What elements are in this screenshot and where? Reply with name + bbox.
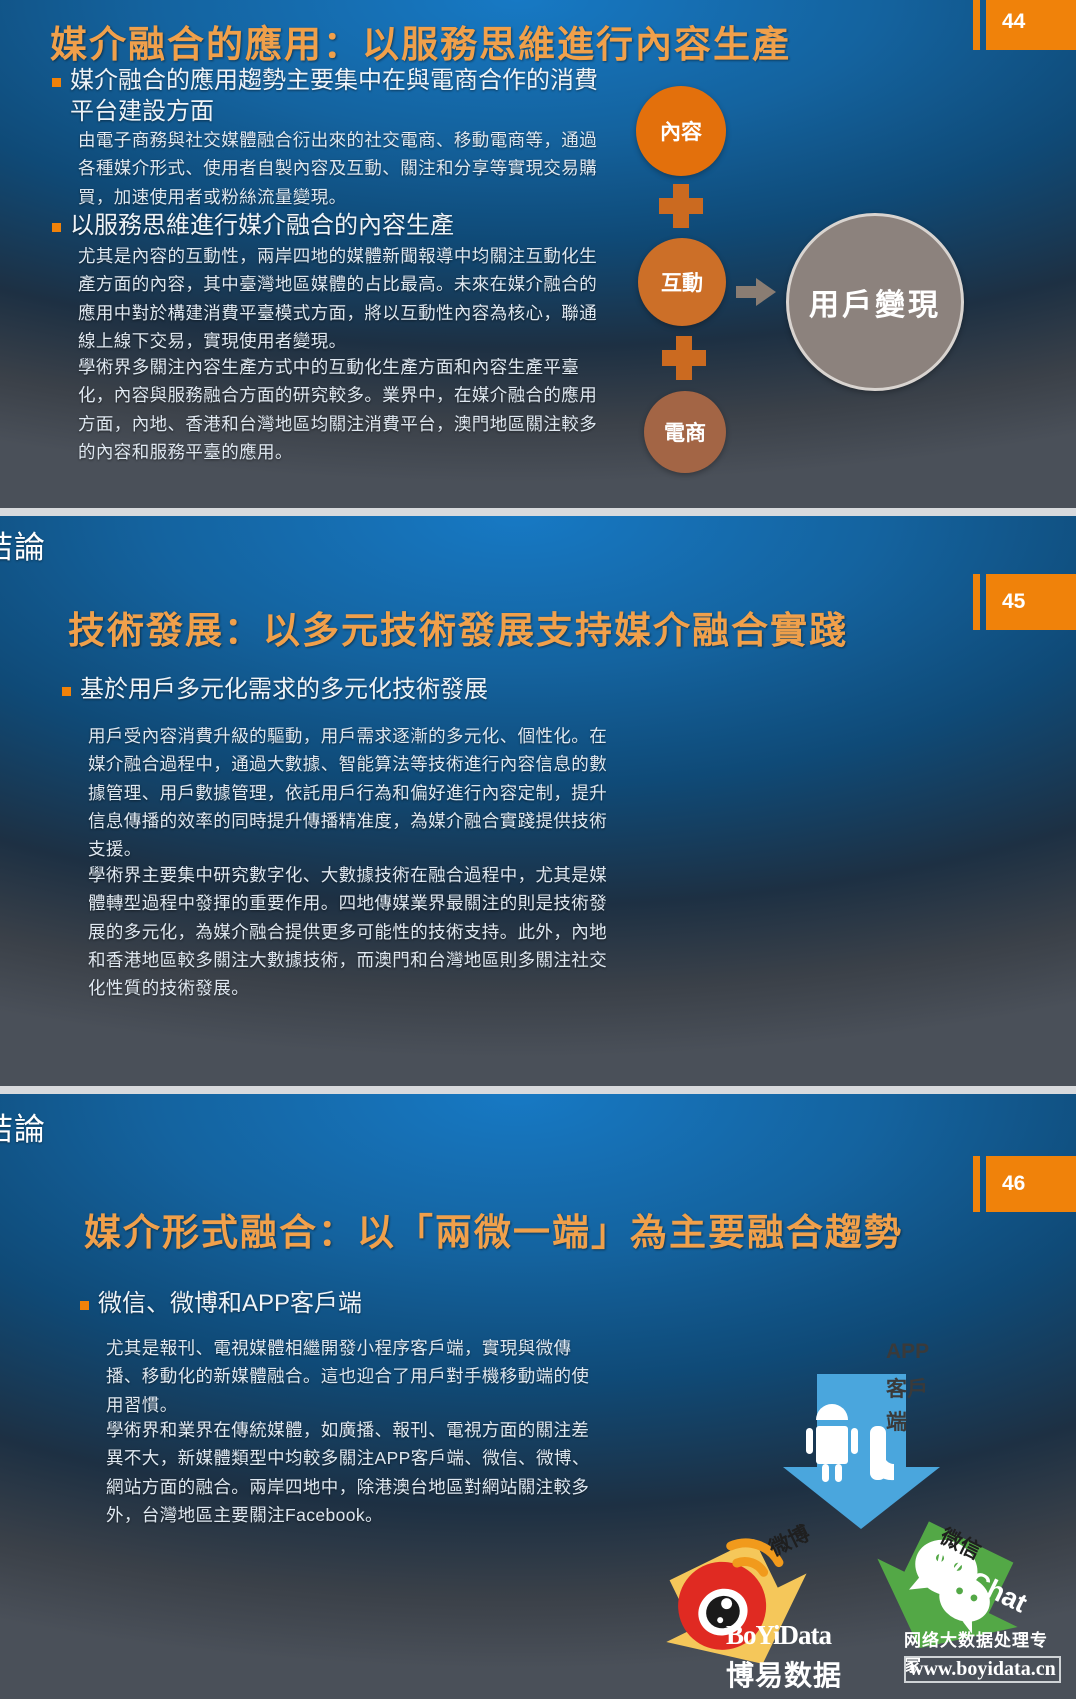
- diagram-node-ecommerce: 電商: [644, 391, 726, 473]
- bullet-heading-1: 基於用戶多元化需求的多元化技術發展: [62, 675, 622, 706]
- slide-separator: [0, 508, 1076, 516]
- bullet-heading-1: 媒介融合的應用趨勢主要集中在與電商合作的消費平台建設方面: [52, 66, 612, 127]
- section-tag: 結論: [0, 1104, 46, 1149]
- arrow-right-icon: [736, 278, 776, 306]
- bullet-heading-text: 以服務思維進行媒介融合的內容生產: [70, 211, 454, 242]
- bullet-heading-2: 以服務思維進行媒介融合的內容生產: [52, 211, 612, 242]
- body-paragraph: 尤其是內容的互動性，兩岸四地的媒體新聞報導中均關注互動化生產方面的內容，其中臺灣…: [78, 242, 606, 355]
- watermark-url: www.boyidata.cn: [904, 1656, 1061, 1683]
- bullet-heading-text: 媒介融合的應用趨勢主要集中在與電商合作的消費平台建設方面: [70, 66, 612, 127]
- watermark: BoYiData 博易数据 网络大数据处理专家 www.boyidata.cn: [726, 1620, 1056, 1690]
- bullet-heading-text: 基於用戶多元化需求的多元化技術發展: [80, 675, 488, 706]
- bullet-square-icon: [52, 223, 61, 232]
- bullet-square-icon: [52, 78, 61, 87]
- body-paragraph: 學術界和業界在傳統媒體，如廣播、報刊、電視方面的關注差異不大，新媒體類型中均較多…: [106, 1416, 606, 1529]
- body-paragraph: 學術界多關注內容生產方式中的互動化生產方面和內容生產平臺化，內容與服務融合方面的…: [78, 353, 606, 466]
- body-paragraph: 由電子商務與社交媒體融合衍出來的社交電商、移動電商等，通過各種媒介形式、使用者自…: [78, 126, 606, 211]
- slide-title: 媒介形式融合：以「兩微一端」為主要融合趨勢: [84, 1202, 903, 1256]
- label-app-line3: 端: [886, 1406, 907, 1436]
- page-chip-bar: [973, 0, 980, 50]
- page-number-chip: 44: [973, 0, 1076, 50]
- page-number-label: 46: [986, 1156, 1076, 1212]
- diagram-node-interaction: 互動: [638, 238, 726, 326]
- slide-45: 結論 45 技術發展：以多元技術發展支持媒介融合實踐 基於用戶多元化需求的多元化…: [0, 516, 1076, 1086]
- label-app: APP: [886, 1340, 929, 1364]
- bullet-square-icon: [62, 687, 71, 696]
- body-paragraph: 用戶受內容消費升級的驅動，用戶需求逐漸的多元化、個性化。在媒介融合過程中，通過大…: [88, 722, 608, 864]
- bullet-heading-1: 微信、微博和APP客戶端: [80, 1289, 620, 1320]
- diagram-result-node: 用戶變現: [786, 213, 964, 391]
- slide-separator: [0, 1086, 1076, 1094]
- page-number-label: 44: [986, 0, 1076, 50]
- body-paragraph: 學術界主要集中研究數字化、大數據技術在融合過程中，尤其是媒體轉型過程中發揮的重要…: [88, 861, 613, 1003]
- slide-title: 媒介融合的應用：以服務思維進行內容生產: [50, 14, 791, 68]
- plus-icon: [662, 336, 706, 380]
- bullet-square-icon: [80, 1301, 89, 1310]
- bullet-heading-text: 微信、微博和APP客戶端: [98, 1289, 362, 1320]
- diagram-node-content: 內容: [636, 86, 726, 176]
- plus-icon: [659, 184, 703, 228]
- page-chip-bar: [973, 574, 980, 630]
- slide-44: 44 媒介融合的應用：以服務思維進行內容生產 媒介融合的應用趨勢主要集中在與電商…: [0, 0, 1076, 508]
- body-paragraph: 尤其是報刊、電視媒體相繼開發小程序客戶端，實現與微傳播、移動化的新媒體融合。這也…: [106, 1334, 606, 1419]
- slide-title: 技術發展：以多元技術發展支持媒介融合實踐: [68, 600, 848, 654]
- label-app-line2: 客戶: [886, 1373, 928, 1403]
- watermark-brand-cn: 博易数据: [726, 1654, 842, 1694]
- page-number-chip: 45: [973, 574, 1076, 630]
- watermark-brand-en: BoYiData: [726, 1620, 831, 1651]
- section-tag: 結論: [0, 522, 46, 567]
- page-number-label: 45: [986, 574, 1076, 630]
- slide-deck-page: 44 媒介融合的應用：以服務思維進行內容生產 媒介融合的應用趨勢主要集中在與電商…: [0, 0, 1076, 1699]
- page-number-chip: 46: [973, 1156, 1076, 1212]
- page-chip-bar: [973, 1156, 980, 1212]
